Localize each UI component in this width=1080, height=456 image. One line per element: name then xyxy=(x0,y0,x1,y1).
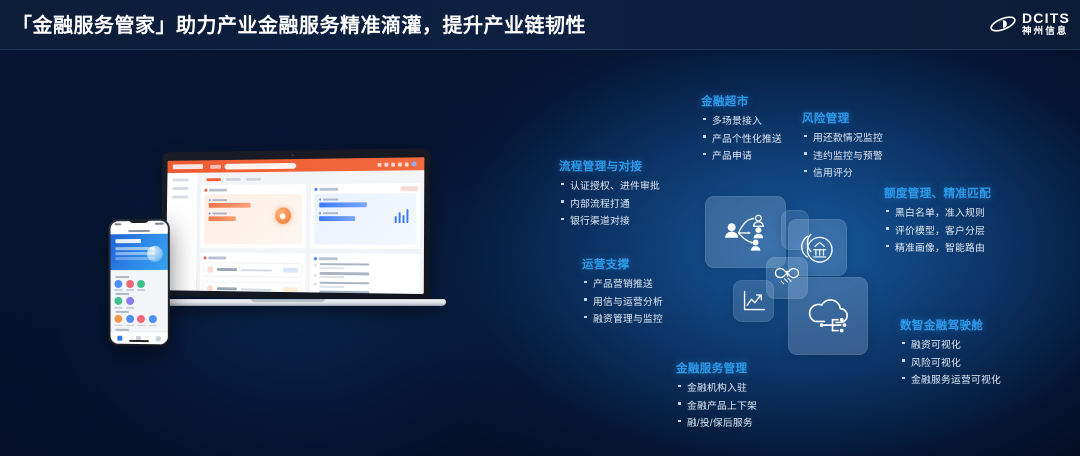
phone-app-body xyxy=(111,270,168,332)
tab-home-icon[interactable] xyxy=(118,335,123,340)
concept-icon-collage xyxy=(700,192,880,362)
block-title: 金融超市 xyxy=(701,93,782,109)
kpi-label xyxy=(319,198,412,200)
dashboard-logo xyxy=(173,164,203,169)
tab-item[interactable] xyxy=(226,178,241,181)
list-item[interactable] xyxy=(313,263,416,270)
list-item: 产品营销推送 xyxy=(582,276,663,290)
list-item: 融资可视化 xyxy=(900,337,1001,351)
dashboard-search-input[interactable] xyxy=(225,162,297,169)
panel-marker-icon xyxy=(314,257,317,260)
list-item: 用信与运营分析 xyxy=(582,294,663,308)
bar-chart-icon xyxy=(394,207,408,223)
kpi-value xyxy=(319,202,367,207)
status-badge xyxy=(283,268,298,273)
dashboard-tabs[interactable] xyxy=(206,176,420,181)
dashboard-nav xyxy=(210,164,221,168)
webcam-icon xyxy=(292,154,294,156)
icon-grid-row[interactable] xyxy=(114,315,163,327)
laptop-lid xyxy=(160,148,430,300)
avatar[interactable] xyxy=(412,161,417,166)
kpi-card xyxy=(314,193,417,245)
kpi-panel-orange xyxy=(200,184,306,248)
block-title: 流程管理与对接 xyxy=(559,158,660,174)
list-item: 融/投/保后服务 xyxy=(676,415,757,429)
app-shortcut[interactable] xyxy=(114,280,122,291)
card-cloud-computing xyxy=(788,277,868,355)
list-item-sub xyxy=(241,269,272,271)
app-shortcut[interactable] xyxy=(126,297,134,308)
galaxy-swirl-icon xyxy=(989,11,1017,37)
phone-screen xyxy=(111,221,168,345)
sidebar-item[interactable] xyxy=(172,196,188,199)
block-title: 数智金融驾驶舱 xyxy=(900,317,1001,333)
list-item[interactable] xyxy=(203,281,301,294)
list-item: 违约监控与预警 xyxy=(802,148,883,162)
list-item-title xyxy=(217,268,237,271)
kpi-card xyxy=(204,194,302,245)
block-title: 额度管理、精准匹配 xyxy=(884,185,991,201)
laptop-base xyxy=(129,299,446,306)
card-growth-chart xyxy=(733,280,774,322)
block-list: 黑白名单，准入规则 评价模型，客户分层 精准画像，智能路由 xyxy=(884,205,991,254)
task-list-panel xyxy=(199,253,305,294)
panel-title xyxy=(209,189,227,192)
app-shortcut[interactable] xyxy=(126,280,134,291)
panel-marker-icon xyxy=(204,256,207,259)
logo-text-cn: 神州信息 xyxy=(1022,27,1070,37)
list-item: 风险可视化 xyxy=(900,355,1001,369)
panel-title xyxy=(318,257,337,260)
block-list: 金融机构入驻 金融产品上下架 融/投/保后服务 xyxy=(676,380,757,429)
kpi-value xyxy=(209,203,251,208)
bullet-icon xyxy=(313,292,316,294)
page-title: 「金融服务管家」助力产业金融服务精准滴灌，提升产业链韧性 xyxy=(12,9,586,38)
sidebar-item[interactable] xyxy=(173,187,189,190)
block-risk-management: 风险管理 用还款情况监控 违约监控与预警 信用评分 xyxy=(802,110,883,183)
status-dot-icon xyxy=(207,266,213,273)
block-list: 产品营销推送 用信与运营分析 融资管理与监控 xyxy=(582,276,663,325)
app-shortcut[interactable] xyxy=(137,280,145,291)
dashboard-ui xyxy=(166,157,425,294)
list-item: 用还款情况监控 xyxy=(802,130,883,144)
panel-marker-icon xyxy=(314,188,317,191)
block-title: 金融服务管理 xyxy=(676,360,757,376)
panel-title xyxy=(319,188,338,191)
bullet-icon xyxy=(313,264,316,267)
section-label xyxy=(115,293,129,295)
home-indicator xyxy=(129,340,149,342)
panel-header xyxy=(204,256,302,260)
list-item: 金融服务运营可视化 xyxy=(900,372,1001,386)
block-credit-limit-matching: 额度管理、精准匹配 黑白名单，准入规则 评价模型，客户分层 精准画像，智能路由 xyxy=(884,185,991,258)
block-title: 运营支撑 xyxy=(582,256,663,272)
header-bar: 「金融服务管家」助力产业金融服务精准滴灌，提升产业链韧性 DCITS 神州信息 xyxy=(0,0,1080,50)
tab-profile-icon[interactable] xyxy=(156,336,161,341)
kpi-value xyxy=(319,216,355,221)
list-item: 信用评分 xyxy=(802,165,883,179)
bullet-icon xyxy=(313,274,316,277)
list-item: 黑白名单，准入规则 xyxy=(884,205,991,219)
dashboard-main xyxy=(196,170,424,294)
block-list: 融资可视化 风险可视化 金融服务运营可视化 xyxy=(900,337,1001,386)
section-label xyxy=(115,276,129,278)
list-item: 认证授权、进件审批 xyxy=(559,178,660,192)
block-financial-supermarket: 金融超市 多场景接入 产品个性化推送 产品申请 xyxy=(701,93,782,166)
panel-header xyxy=(314,257,416,261)
section-label xyxy=(115,311,129,313)
list-item: 产品申请 xyxy=(701,148,782,162)
list-item: 银行渠道对接 xyxy=(559,213,660,227)
dashboard-sidebar[interactable] xyxy=(166,173,199,291)
block-process-management: 流程管理与对接 认证授权、进件审批 内部流程打通 银行渠道对接 xyxy=(559,158,660,231)
slide-canvas: 「金融服务管家」助力产业金融服务精准滴灌，提升产业链韧性 DCITS 神州信息 xyxy=(0,0,1080,456)
app-shortcut[interactable] xyxy=(114,315,122,326)
list-item: 产品个性化推送 xyxy=(701,131,782,145)
phone-app-mockup xyxy=(109,219,170,347)
gear-icon[interactable] xyxy=(405,162,409,166)
brand-logo: DCITS 神州信息 xyxy=(989,8,1070,40)
status-dot-icon xyxy=(207,285,213,292)
bell-icon[interactable] xyxy=(391,162,395,166)
tab-item[interactable] xyxy=(246,178,261,181)
kpi-label xyxy=(209,199,297,201)
block-title: 风险管理 xyxy=(802,110,883,126)
panel-header xyxy=(205,188,302,192)
list-item-title xyxy=(217,287,237,290)
sidebar-item[interactable] xyxy=(173,179,189,182)
banner-orb-icon xyxy=(147,246,163,262)
list-item: 多场景接入 xyxy=(701,113,782,127)
list-item: 融资管理与监控 xyxy=(582,311,663,325)
block-list: 认证授权、进件审批 内部流程打通 银行渠道对接 xyxy=(559,178,660,227)
app-shortcut[interactable] xyxy=(114,297,122,308)
list-item[interactable] xyxy=(203,262,301,277)
list-item[interactable] xyxy=(313,291,416,294)
block-list: 用还款情况监控 违约监控与预警 信用评分 xyxy=(802,130,883,179)
phone-hero-banner xyxy=(111,234,168,270)
app-shortcut[interactable] xyxy=(126,315,134,326)
tab-item[interactable] xyxy=(206,178,220,181)
list-item-sub xyxy=(240,288,271,290)
laptop-screen xyxy=(166,157,425,294)
kpi-panel-blue xyxy=(310,183,420,249)
list-item[interactable] xyxy=(313,281,416,288)
icon-grid-row[interactable] xyxy=(114,297,163,308)
block-list: 多场景接入 产品个性化推送 产品申请 xyxy=(701,113,782,162)
panel-marker-icon xyxy=(205,189,208,192)
status-badge xyxy=(282,287,297,292)
bullet-icon xyxy=(313,283,316,286)
message-icon[interactable] xyxy=(398,162,402,166)
panel-title xyxy=(208,256,226,259)
phone-notch xyxy=(129,219,149,223)
primary-action-button[interactable] xyxy=(401,186,419,191)
block-digital-finance-cockpit: 数智金融驾驶舱 融资可视化 风险可视化 金融服务运营可视化 xyxy=(900,317,1001,390)
app-shortcut[interactable] xyxy=(137,315,145,326)
kpi-value xyxy=(209,216,236,221)
logo-text-en: DCITS xyxy=(1022,11,1070,25)
list-item: 内部流程打通 xyxy=(559,196,660,210)
dashboard-toolbar[interactable] xyxy=(378,161,417,166)
laptop-dashboard-mockup xyxy=(142,148,430,310)
news-list-panel xyxy=(309,253,420,294)
phone-tab-bar[interactable] xyxy=(111,331,168,345)
app-shortcut[interactable] xyxy=(148,315,156,326)
list-item: 评价模型，客户分层 xyxy=(884,223,991,237)
search-icon[interactable] xyxy=(384,162,388,166)
block-financial-service-management: 金融服务管理 金融机构入驻 金融产品上下架 融/投/保后服务 xyxy=(676,360,757,433)
block-operation-support: 运营支撑 产品营销推送 用信与运营分析 融资管理与监控 xyxy=(582,256,663,329)
list-item: 金融机构入驻 xyxy=(676,380,757,394)
list-item: 精准画像，智能路由 xyxy=(884,240,991,254)
highlight-badge-icon xyxy=(275,208,291,224)
grid-icon[interactable] xyxy=(378,162,382,166)
list-item: 金融产品上下架 xyxy=(676,398,757,412)
icon-grid-row[interactable] xyxy=(114,280,163,291)
list-item[interactable] xyxy=(313,272,416,279)
